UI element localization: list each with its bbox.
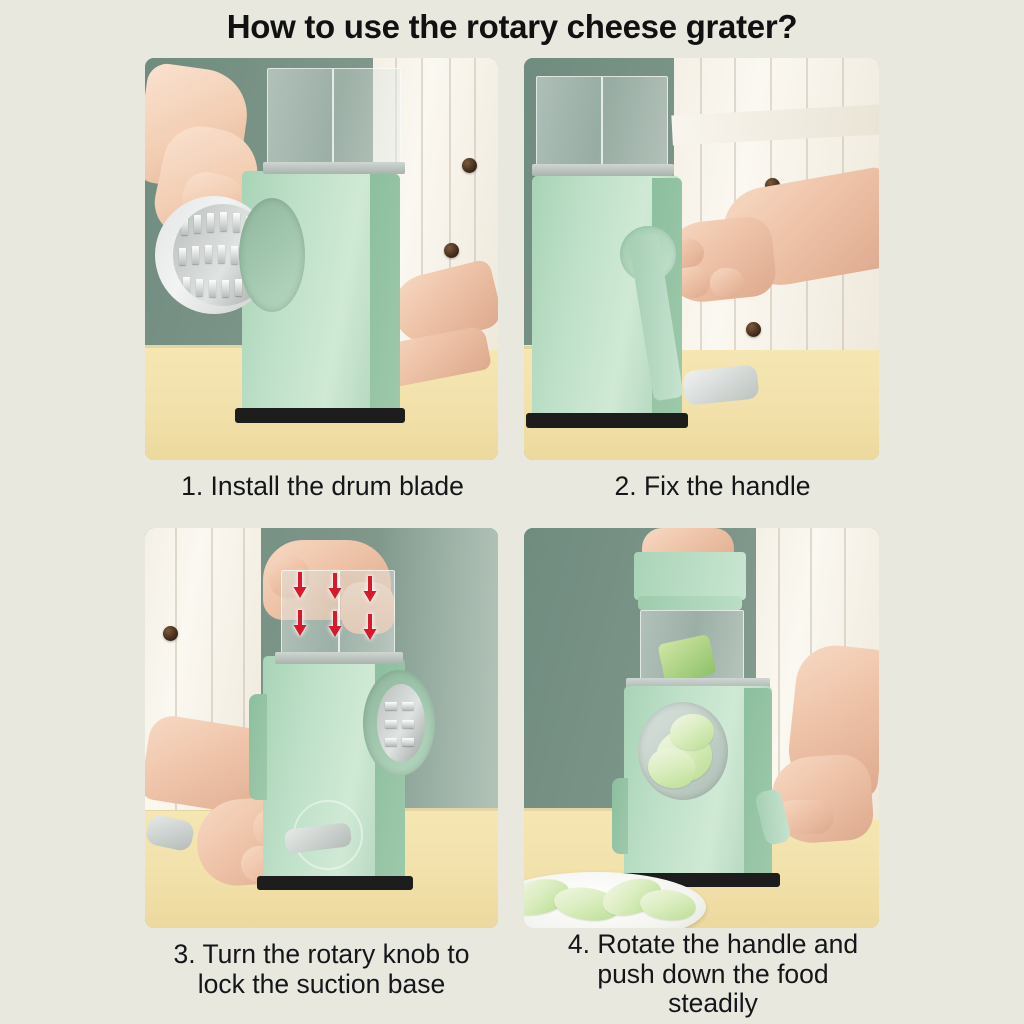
page-title: How to use the rotary cheese grater? xyxy=(0,8,1024,46)
hopper-chute xyxy=(267,68,401,168)
side-rail xyxy=(612,778,628,854)
hopper-chute xyxy=(640,610,744,684)
scene-rotate-handle-push-food xyxy=(524,528,879,928)
suction-base xyxy=(257,876,413,890)
apron-button xyxy=(163,626,178,641)
arrow-down-icon xyxy=(328,573,342,600)
food-pusher xyxy=(634,552,746,600)
step-3-caption-line-2: lock the suction base xyxy=(128,970,515,1000)
push-down-arrows xyxy=(291,570,395,642)
apron-button xyxy=(462,158,477,173)
scene-turn-rotary-knob xyxy=(145,528,498,928)
step-2-caption: 2. Fix the handle xyxy=(520,472,905,502)
cucumber-in-chute xyxy=(657,634,716,684)
suction-base xyxy=(526,413,688,428)
hopper-rim xyxy=(263,162,405,174)
grater-body-side xyxy=(370,174,400,422)
hopper-chute xyxy=(536,76,668,170)
drum-blade-surface xyxy=(377,684,425,762)
hopper-rim xyxy=(532,164,674,176)
arrow-down-icon xyxy=(328,611,342,638)
scene-fix-the-handle xyxy=(524,58,879,460)
step-1-image xyxy=(145,58,498,460)
apron-button xyxy=(746,322,761,337)
step-4-caption-line-3: steadily xyxy=(518,989,908,1019)
finger xyxy=(710,268,744,298)
step-4-image xyxy=(524,528,879,928)
apron-button xyxy=(444,243,459,258)
arrow-down-icon xyxy=(293,610,307,637)
step-2-image xyxy=(524,58,879,460)
step-4-caption-line-1: 4. Rotate the handle and xyxy=(518,930,908,960)
suction-base xyxy=(235,408,405,423)
arrow-down-icon xyxy=(363,614,377,641)
food-pusher-collar xyxy=(638,596,742,610)
arrow-down-icon xyxy=(363,576,377,603)
step-1-caption: 1. Install the drum blade xyxy=(130,472,515,502)
step-3-image xyxy=(145,528,498,928)
side-rail xyxy=(249,694,267,800)
step-4-caption-line-2: push down the food xyxy=(518,960,908,990)
scene-install-drum-blade xyxy=(145,58,498,460)
drum-socket xyxy=(239,198,305,312)
hopper-rim xyxy=(275,652,403,664)
step-4-caption: 4. Rotate the handle and push down the f… xyxy=(518,930,908,1019)
arrow-down-icon xyxy=(293,572,307,599)
step-3-caption: 3. Turn the rotary knob to lock the suct… xyxy=(128,940,515,999)
step-3-caption-line-1: 3. Turn the rotary knob to xyxy=(128,940,515,970)
grater-body-side xyxy=(744,688,772,882)
